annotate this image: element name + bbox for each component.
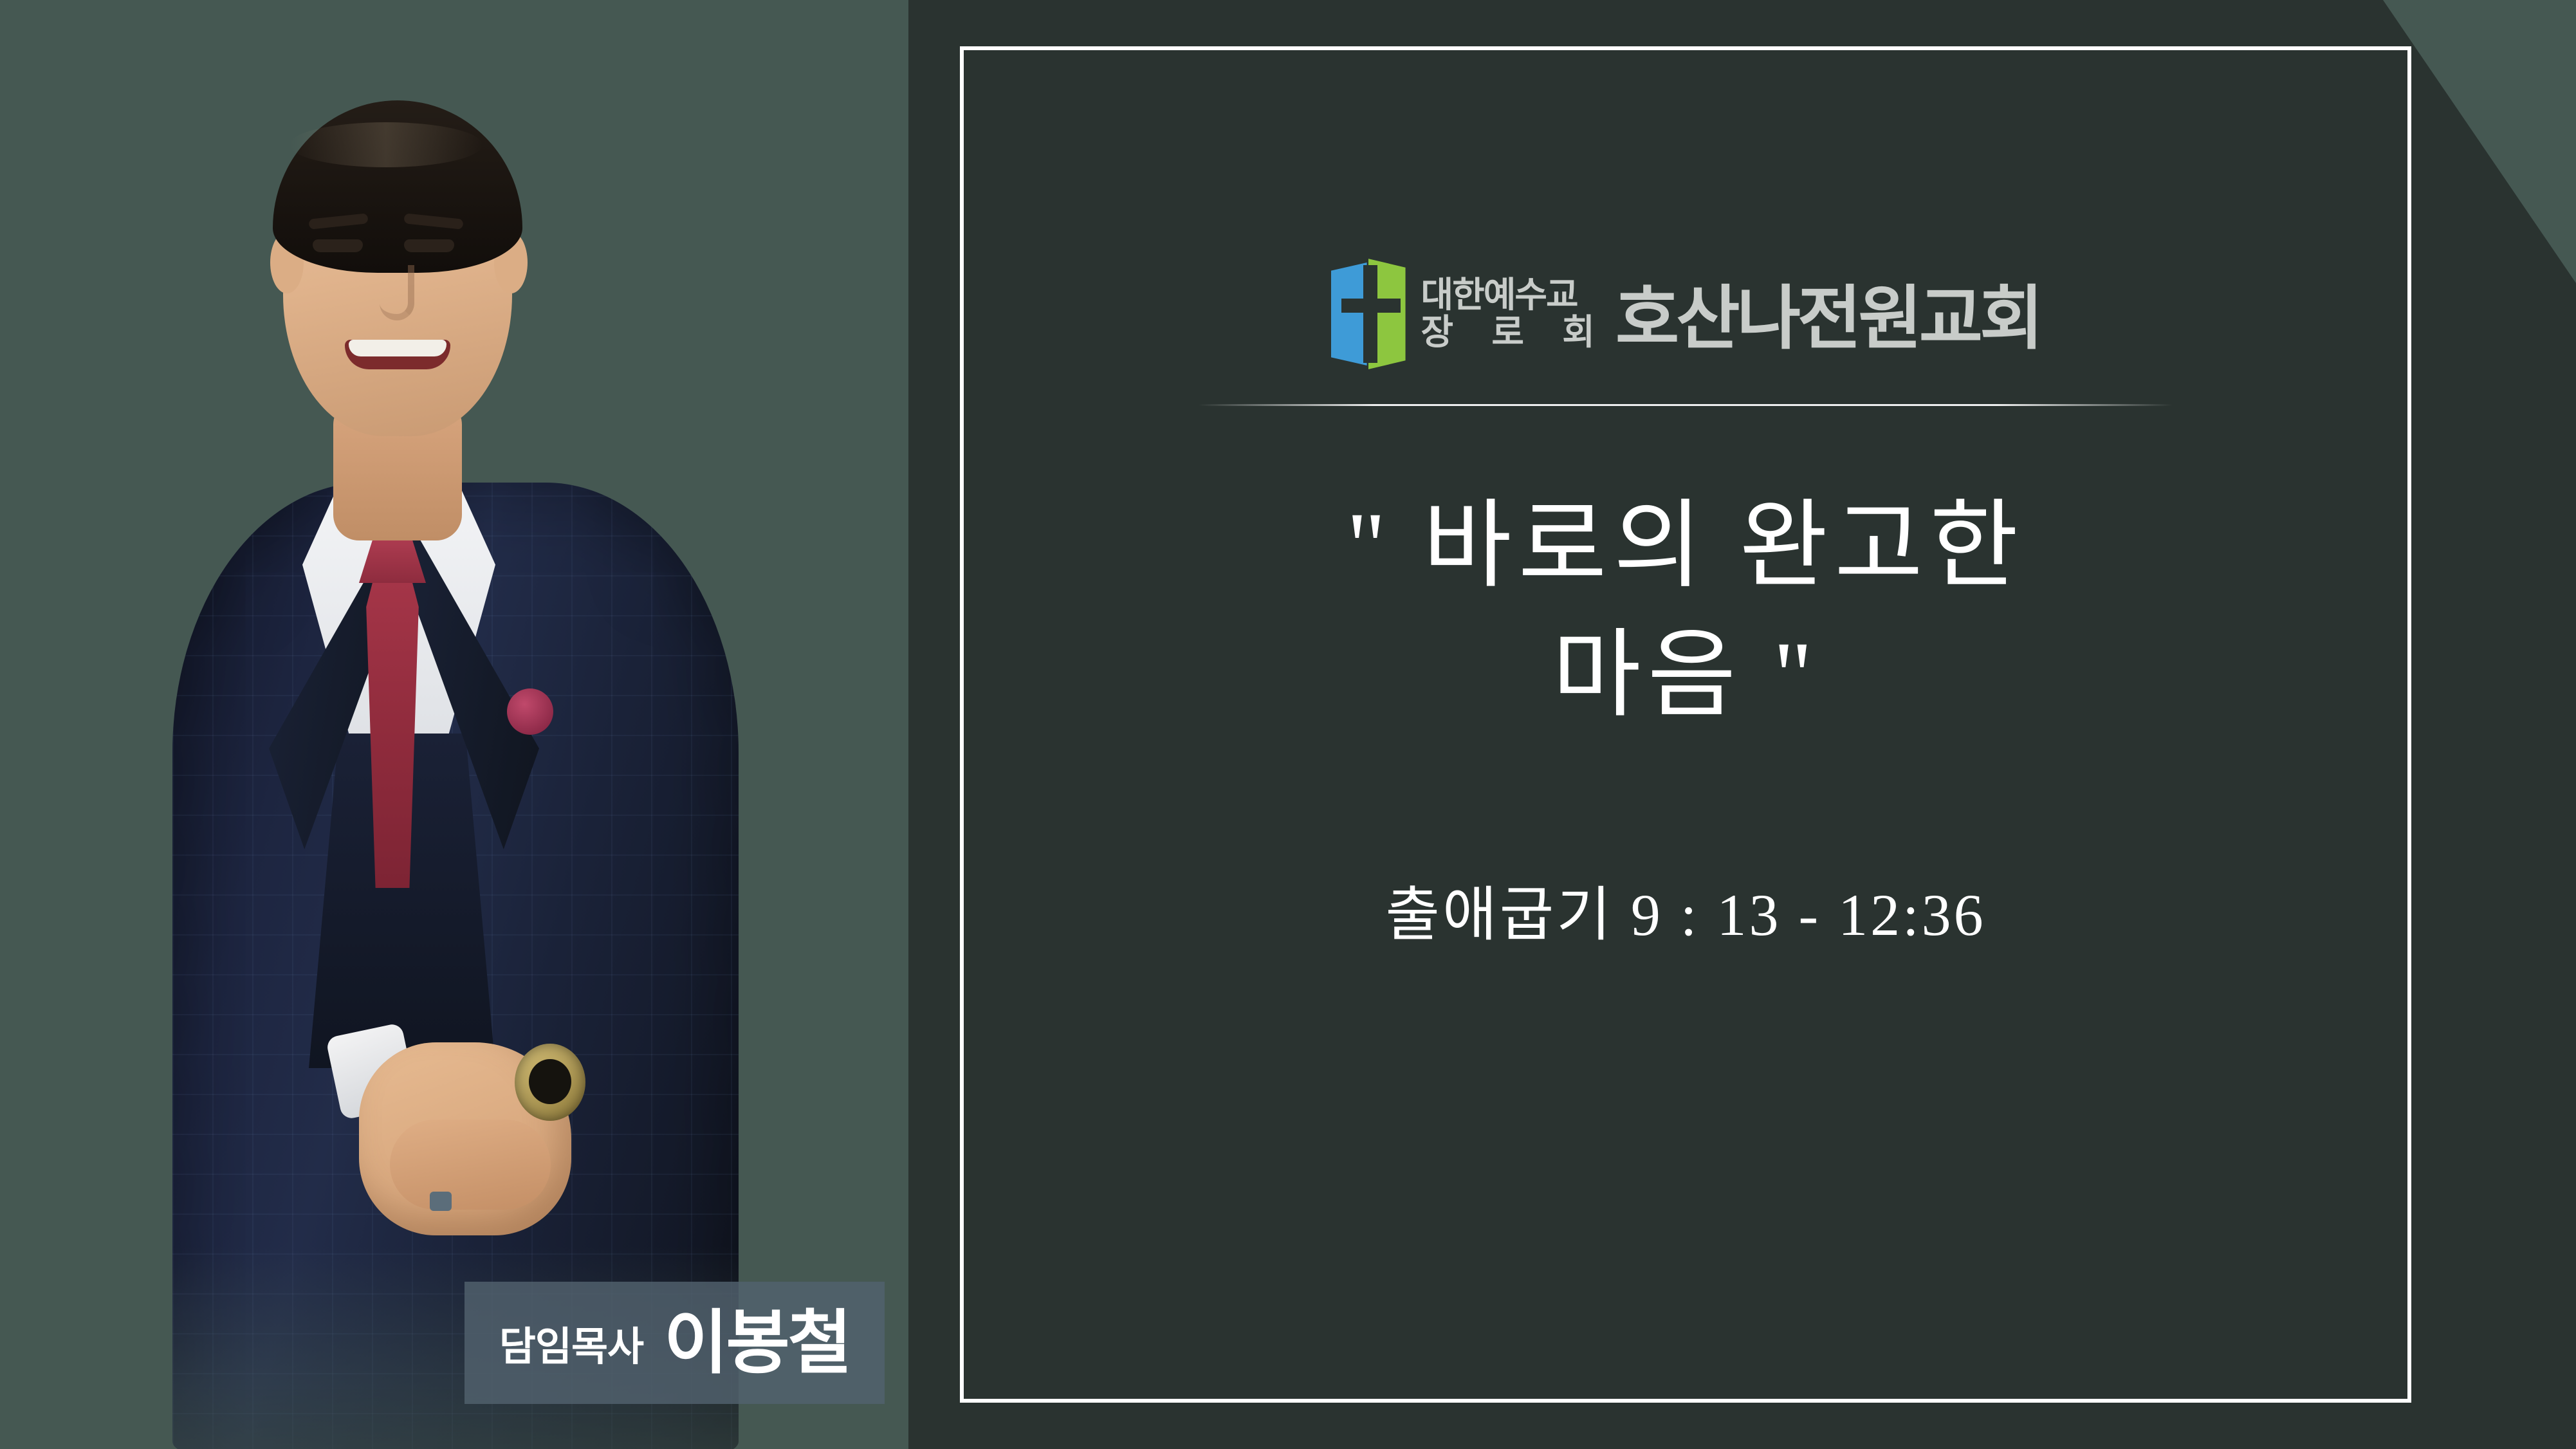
eye-right <box>404 239 454 252</box>
hair <box>273 100 522 273</box>
church-logo: 대한예수교 장 로 회 호산나전원교회 <box>1331 259 2041 368</box>
wristwatch <box>515 1044 585 1121</box>
denomination-line-1: 대한예수교 <box>1421 276 1609 313</box>
church-logo-text: 대한예수교 장 로 회 호산나전원교회 <box>1421 276 2041 351</box>
sermon-title-slide: 담임목사 이봉철 대한예수교 장 로 회 호산나전원교회 <box>0 0 2576 1449</box>
main-panel: 대한예수교 장 로 회 호산나전원교회 " 바로의 완고한 마음 " 출애굽기 … <box>908 0 2576 1449</box>
logo-cross-horizontal <box>1341 299 1401 313</box>
speaker-name-plate: 담임목사 이봉철 <box>465 1282 885 1404</box>
main-content: 대한예수교 장 로 회 호산나전원교회 " 바로의 완고한 마음 " 출애굽기 … <box>960 46 2411 1403</box>
speaker-panel: 담임목사 이봉철 <box>0 0 908 1449</box>
scripture-reference: 출애굽기 9 : 13 - 12:36 <box>1074 867 2297 952</box>
denomination-line-2: 장 로 회 <box>1421 313 1609 351</box>
logo-cross-vertical <box>1363 265 1377 363</box>
finger-ring <box>430 1192 452 1211</box>
nose <box>380 265 414 320</box>
sermon-title: " 바로의 완고한 마음 " <box>1074 482 2297 741</box>
logo-blue-page <box>1331 263 1367 365</box>
speaker-role-label: 담임목사 <box>499 1314 643 1372</box>
pastor-portrait-illustration <box>57 39 848 1449</box>
lapel-pin <box>507 688 553 735</box>
eye-left <box>313 239 363 252</box>
corner-accent-shape <box>2383 0 2576 283</box>
church-name-label: 호산나전원교회 <box>1615 284 2041 353</box>
denomination-block: 대한예수교 장 로 회 <box>1421 276 1609 351</box>
mouth-smiling <box>345 340 450 369</box>
speaker-photo <box>0 0 908 1449</box>
open-bible-cross-logo-icon <box>1331 259 1407 368</box>
speaker-name-label: 이봉철 <box>664 1308 850 1378</box>
logo-divider-line <box>1199 404 2173 406</box>
